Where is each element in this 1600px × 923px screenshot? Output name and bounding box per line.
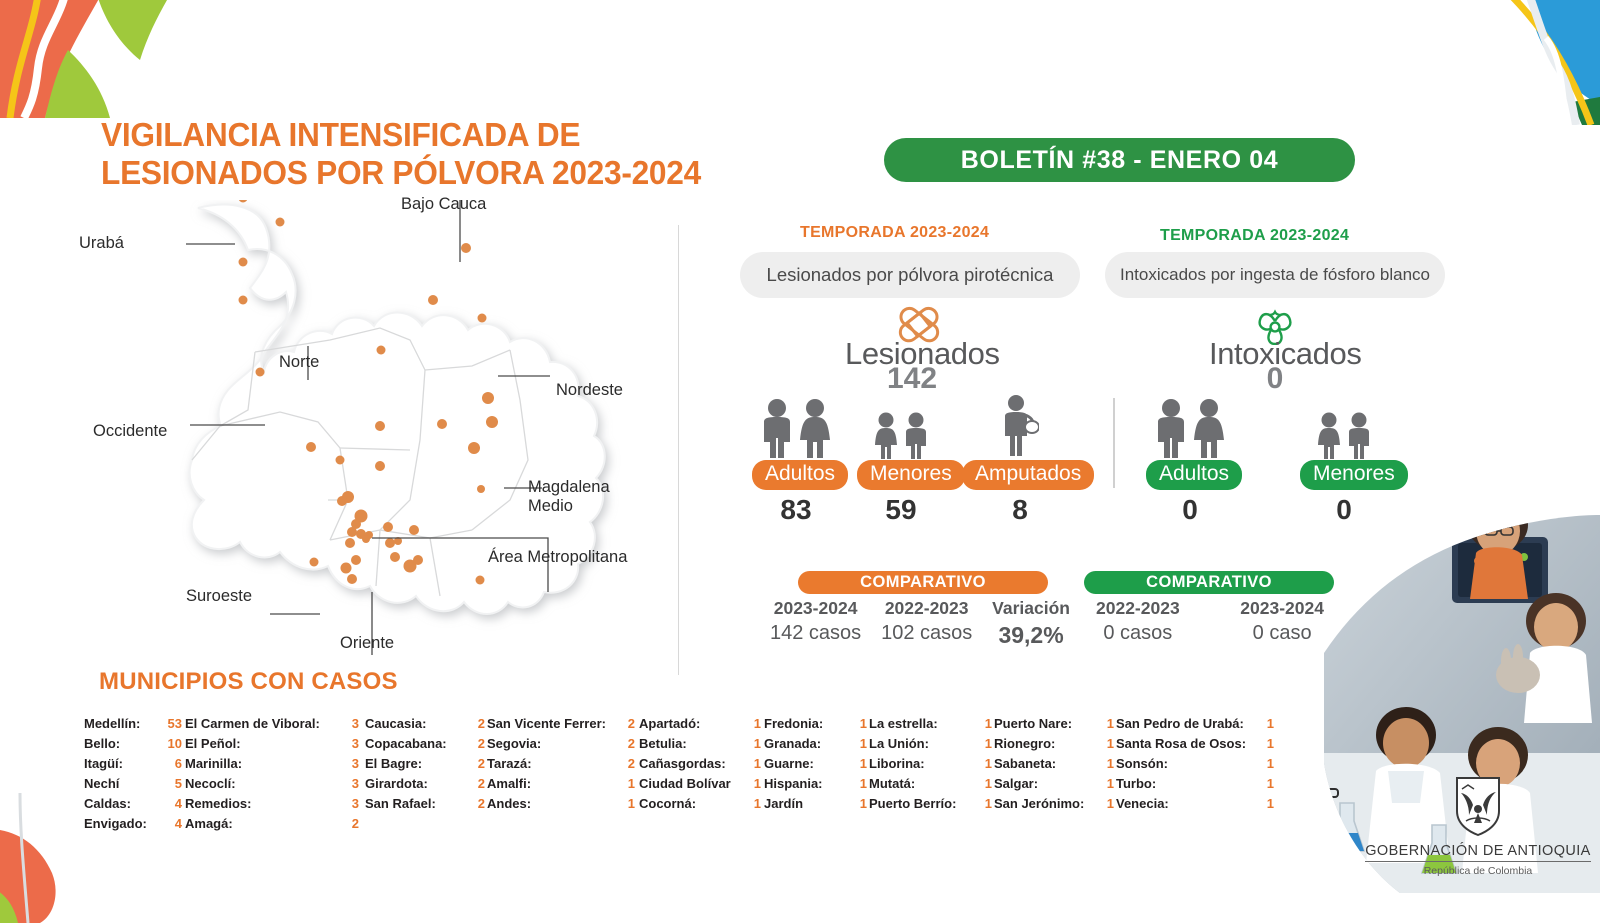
antioquia-crest-icon [1452, 775, 1504, 837]
municipio-row: Salgar:1 [994, 776, 1116, 796]
injured-menores-label: Menores [857, 460, 965, 490]
municipio-row: Rionegro:1 [994, 736, 1116, 756]
page-title-line1: VIGILANCIA INTENSIFICADA DE [101, 116, 580, 153]
municipio-row: Turbo:1 [1116, 776, 1276, 796]
children-icon [1300, 394, 1388, 460]
bulletin-badge: BOLETÍN #38 - ENERO 04 [884, 138, 1355, 182]
municipio-row: Fredonia:1 [764, 716, 869, 736]
municipios-column: Apartadó:1 Betulia:1 Cañasgordas:1 Ciuda… [639, 716, 764, 836]
municipio-row: Copacabana:2 [365, 736, 487, 756]
injured-menores-value: 59 [857, 494, 945, 526]
map-label-area-metropolitana: Área Metropolitana [488, 548, 627, 567]
municipio-row: La Unión:1 [869, 736, 994, 756]
municipio-row: Girardota:2 [365, 776, 487, 796]
poisoned-adultos-label: Adultos [1146, 460, 1242, 490]
comparative-column: Variación 39,2% [992, 598, 1070, 649]
map-graphic [80, 200, 680, 670]
municipio-row: Granada:1 [764, 736, 869, 756]
municipio-row: El Peñol:3 [185, 736, 365, 756]
municipio-row: Puerto Nare:1 [994, 716, 1116, 736]
municipios-column: San Pedro de Urabá:1 Santa Rosa de Osos:… [1116, 716, 1276, 836]
injured-comparative-bar: COMPARATIVO [798, 571, 1048, 594]
comparative-column: 2022-2023 0 casos [1096, 598, 1180, 645]
injured-category-menores: Menores 59 [857, 394, 945, 526]
municipios-table: Medellín:53 Bello:10 Itagüí:6 Nechí5 Cal… [84, 716, 1276, 836]
comparative-column: 2023-2024 142 casos [770, 598, 861, 649]
municipio-row: Guarne:1 [764, 756, 869, 776]
municipio-row: Marinilla:3 [185, 756, 365, 776]
municipio-row: Caucasia:2 [365, 716, 487, 736]
municipio-row: Hispania:1 [764, 776, 869, 796]
injured-category-adultos: Adultos 83 [752, 394, 840, 526]
injured-amputados-value: 8 [962, 494, 1078, 526]
infographic-canvas: VIGILANCIA INTENSIFICADA DE LESIONADOS P… [0, 0, 1600, 893]
municipio-row: Ciudad Bolívar1 [639, 776, 764, 796]
municipio-row: Tarazá:2 [487, 756, 639, 776]
poisoned-subtitle-pill: Intoxicados por ingesta de fósforo blanc… [1105, 252, 1445, 298]
poisoned-season-label: TEMPORADA 2023-2024 [1160, 227, 1349, 245]
map-label-uraba: Urabá [79, 234, 124, 253]
municipios-title: MUNICIPIOS CON CASOS [99, 668, 398, 696]
injured-headline-number: 142 [884, 362, 940, 396]
municipio-row: Santa Rosa de Osos:1 [1116, 736, 1276, 756]
map-label-norte: Norte [279, 353, 319, 372]
map-label-bajo-cauca: Bajo Cauca [401, 195, 486, 214]
municipios-column: Fredonia:1 Granada:1 Guarne:1 Hispania:1… [764, 716, 869, 836]
municipios-column: Puerto Nare:1 Rionegro:1 Sabaneta:1 Salg… [994, 716, 1116, 836]
municipios-column: Medellín:53 Bello:10 Itagüí:6 Nechí5 Cal… [84, 716, 185, 836]
municipio-row: Nechí5 [84, 776, 185, 796]
municipio-row: Cocorná:1 [639, 796, 764, 816]
government-name: GOBERNACIÓN DE ANTIOQUIA [1365, 843, 1591, 862]
injured-season-label: TEMPORADA 2023-2024 [800, 224, 989, 242]
municipio-row: San Rafael:2 [365, 796, 487, 816]
municipio-row: Venecia:1 [1116, 796, 1276, 816]
children-icon [857, 394, 945, 460]
map-label-suroeste: Suroeste [186, 587, 252, 606]
panel-divider [1113, 398, 1115, 488]
municipio-row: Betulia:1 [639, 736, 764, 756]
municipio-row: La estrella:1 [869, 716, 994, 736]
municipio-row: Medellín:53 [84, 716, 185, 736]
injured-comparative-table: 2023-2024 142 casos 2022-2023 102 casos … [770, 598, 1070, 649]
municipios-column: La estrella:1 La Unión:1 Liborina:1 Muta… [869, 716, 994, 836]
municipio-row: Itagüí:6 [84, 756, 185, 776]
poisoned-headline-number: 0 [1247, 362, 1303, 396]
municipio-row: Remedios:3 [185, 796, 365, 816]
amputee-icon [962, 394, 1078, 460]
map-label-nordeste: Nordeste [556, 381, 623, 400]
poisoned-adultos-value: 0 [1146, 494, 1234, 526]
municipio-row: Envigado:4 [84, 816, 185, 836]
injured-category-amputados: Amputados 8 [962, 394, 1078, 526]
municipios-column: Caucasia:2 Copacabana:2 El Bagre:2 Girar… [365, 716, 487, 836]
municipio-row: Segovia:2 [487, 736, 639, 756]
municipio-row: Bello:10 [84, 736, 185, 756]
poisoned-category-adultos: Adultos 0 [1146, 394, 1234, 526]
municipio-row: Puerto Berrío:1 [869, 796, 994, 816]
municipio-row: San Pedro de Urabá:1 [1116, 716, 1276, 736]
municipio-row: El Bagre:2 [365, 756, 487, 776]
municipio-row: Andes:1 [487, 796, 639, 816]
map-label-oriente: Oriente [340, 634, 394, 653]
poisoned-menores-label: Menores [1300, 460, 1408, 490]
injured-subtitle-pill: Lesionados por pólvora pirotécnica [740, 252, 1080, 298]
municipio-row: Amagá:2 [185, 816, 365, 836]
government-subtitle: República de Colombia [1358, 865, 1598, 877]
municipio-row: Mutatá:1 [869, 776, 994, 796]
decorative-shape-top-right [1386, 0, 1600, 125]
adults-icon [752, 394, 840, 460]
decorative-shape-top-left [0, 0, 260, 118]
municipio-row: Caldas:4 [84, 796, 185, 816]
injured-adultos-label: Adultos [752, 460, 848, 490]
map-label-occidente: Occidente [93, 422, 167, 441]
municipio-row: San Vicente Ferrer:2 [487, 716, 639, 736]
map-label-magdalena-medio: MagdalenaMedio [528, 478, 610, 516]
government-logo: GOBERNACIÓN DE ANTIOQUIA República de Co… [1358, 775, 1598, 877]
municipio-row: Sonsón:1 [1116, 756, 1276, 776]
municipio-row: Amalfi:1 [487, 776, 639, 796]
page-title: VIGILANCIA INTENSIFICADA DE LESIONADOS P… [101, 116, 701, 193]
municipio-row: San Jerónimo:1 [994, 796, 1116, 816]
municipios-column: El Carmen de Viboral:3 El Peñol:3 Marini… [185, 716, 365, 836]
adults-icon [1146, 394, 1234, 460]
municipio-row: Apartadó:1 [639, 716, 764, 736]
comparative-column: 2022-2023 102 casos [881, 598, 972, 649]
municipio-row: El Carmen de Viboral:3 [185, 716, 365, 736]
page-title-line2: LESIONADOS POR PÓLVORA 2023-2024 [101, 154, 701, 192]
injured-amputados-label: Amputados [962, 460, 1094, 490]
municipio-row: Sabaneta:1 [994, 756, 1116, 776]
antioquia-map: Urabá Bajo Cauca Norte Nordeste Occident… [80, 200, 680, 670]
municipio-row: Jardín1 [764, 796, 869, 816]
bulletin-badge-label: BOLETÍN #38 - ENERO 04 [961, 146, 1278, 175]
municipio-row: Cañasgordas:1 [639, 756, 764, 776]
municipio-row: Necoclí:3 [185, 776, 365, 796]
injured-adultos-value: 83 [752, 494, 840, 526]
municipio-row: Liborina:1 [869, 756, 994, 776]
municipios-column: San Vicente Ferrer:2 Segovia:2 Tarazá:2 … [487, 716, 639, 836]
